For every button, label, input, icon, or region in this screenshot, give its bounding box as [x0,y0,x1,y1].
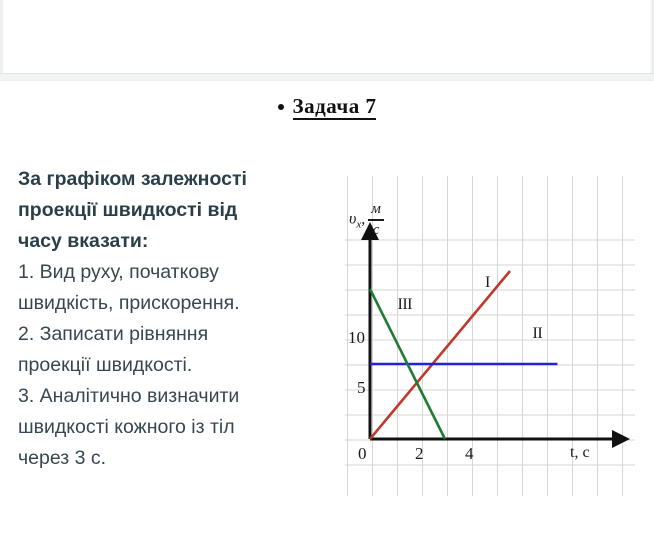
graph-plot [345,176,635,496]
fraction-bar [368,219,384,221]
y-axis-units-fraction: м с [368,202,384,238]
x-tick-label: 4 [465,444,474,464]
bullet-icon [278,104,284,110]
problem-line: 2. Записати рівняння [18,319,336,350]
series-label-iii: III [398,296,412,314]
problem-line: проекції швидкості. [18,350,336,381]
x-axis-label: t, c [570,444,590,462]
content-area: Задача 7 За графіком залежності проекції… [0,81,654,541]
problem-line: 1. Вид руху, початкову [18,257,336,288]
problem-line: через 3 с. [18,443,336,474]
problem-line: За графіком залежності [18,164,336,195]
problem-line: проекції швидкості від [18,195,336,226]
y-tick-label: 10 [348,328,365,348]
y-axis-comma: , [361,210,365,227]
problem-statement: За графіком залежності проекції швидкост… [18,164,336,474]
units-denominator: с [368,223,384,238]
y-tick-label: 5 [357,378,366,398]
x-tick-label: 0 [358,444,367,464]
problem-line: часу вказати: [18,226,336,257]
problem-line: швидкість, прискорення. [18,288,336,319]
x-tick-label: 2 [415,444,424,464]
y-axis-label: υx, м с [349,202,384,238]
top-divider [0,73,654,81]
problem-line: швидкості кожного із тіл [18,412,336,443]
page-title-text: Задача 7 [293,95,377,120]
series-label-ii: II [533,325,543,343]
problem-line: 3. Аналітично визначити [18,381,336,412]
page-title: Задача 7 [0,95,654,120]
velocity-time-graph: υx, м с 024510 IIIIII t, c [345,176,635,496]
page-root: Задача 7 За графіком залежності проекції… [0,0,654,541]
series-label-i: I [485,274,490,292]
units-numerator: м [368,202,384,217]
top-white-band [0,0,654,73]
